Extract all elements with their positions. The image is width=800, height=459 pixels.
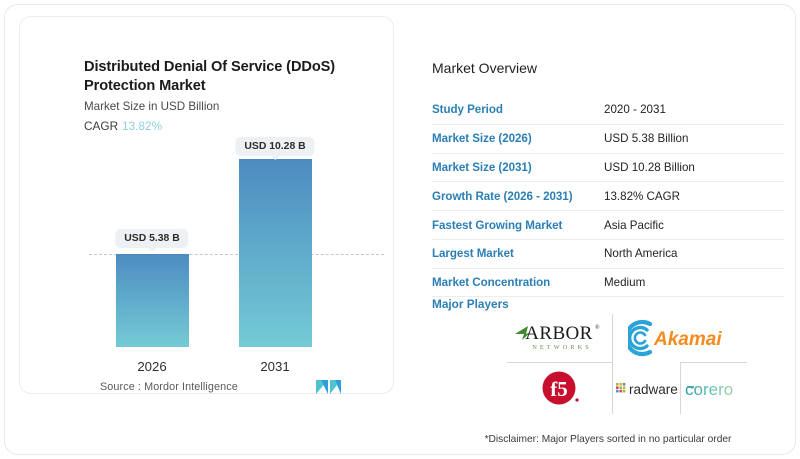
- bar-2031: [239, 159, 312, 347]
- row-value: 2020 - 2031: [604, 96, 784, 124]
- table-row: Market Size (2026) USD 5.38 Billion: [432, 124, 784, 153]
- bar-2026: [116, 254, 189, 347]
- row-value: Medium: [604, 268, 784, 297]
- row-value: North America: [604, 239, 784, 268]
- grid-divider-vertical: [612, 314, 613, 362]
- source-row: Source : Mordor Intelligence: [100, 379, 342, 395]
- table-row: Market Concentration Medium: [432, 268, 784, 297]
- table-row: Study Period 2020 - 2031: [432, 96, 784, 124]
- market-overview-panel: Market Overview Study Period 2020 - 2031…: [432, 16, 792, 446]
- x-axis-tick-2031: 2031: [260, 359, 289, 374]
- chart-subtitle: Market Size in USD Billion: [84, 100, 219, 113]
- row-key: Market Size (2026): [432, 124, 604, 153]
- table-row: Largest Market North America: [432, 239, 784, 268]
- player-logo-radware: radware: [613, 366, 681, 412]
- row-value: 13.82% CAGR: [604, 182, 784, 211]
- cagr-value: 13.82%: [122, 119, 162, 133]
- chart-cagr: CAGR13.82%: [84, 119, 162, 133]
- grid-divider-horizontal: [507, 362, 612, 363]
- row-value: USD 10.28 Billion: [604, 153, 784, 182]
- cagr-label: CAGR: [84, 119, 118, 133]
- page-frame: Distributed Denial Of Service (DDoS) Pro…: [4, 4, 796, 455]
- major-players-logo-grid: ARBOR ® NETWORKS Akamai f5: [507, 314, 747, 414]
- chart-title: Distributed Denial Of Service (DDoS) Pro…: [84, 58, 374, 97]
- market-overview-table: Study Period 2020 - 2031 Market Size (20…: [432, 96, 784, 297]
- row-key: Growth Rate (2026 - 2031): [432, 182, 604, 211]
- table-row: Fastest Growing Market Asia Pacific: [432, 211, 784, 240]
- bar-value-label-2031: USD 10.28 B: [235, 137, 314, 156]
- market-overview-heading: Market Overview: [432, 60, 537, 76]
- chart-card: Distributed Denial Of Service (DDoS) Pro…: [19, 16, 394, 394]
- player-logo-corero: corero: [683, 366, 747, 412]
- table-row: Growth Rate (2026 - 2031) 13.82% CAGR: [432, 182, 784, 211]
- mordor-intelligence-logo: [316, 379, 342, 395]
- disclaimer-text: *Disclaimer: Major Players sorted in no …: [432, 434, 784, 445]
- table-row: Market Size (2031) USD 10.28 Billion: [432, 153, 784, 182]
- major-players-label: Major Players: [432, 297, 509, 311]
- row-key: Market Concentration: [432, 268, 604, 297]
- svg-text:Akamai: Akamai: [653, 329, 722, 350]
- row-value: Asia Pacific: [604, 211, 784, 240]
- bar-value-label-2026: USD 5.38 B: [115, 229, 188, 248]
- source-label: Source : Mordor Intelligence: [100, 381, 238, 393]
- svg-text:®: ®: [595, 324, 600, 331]
- bar-chart-plot: USD 5.38 B USD 10.28 B 2026 2031: [84, 137, 384, 352]
- svg-text:f5: f5: [550, 377, 568, 401]
- svg-text:ARBOR: ARBOR: [525, 323, 592, 344]
- grid-divider-horizontal: [680, 362, 747, 363]
- svg-text:NETWORKS: NETWORKS: [532, 344, 592, 351]
- svg-text:corero: corero: [685, 380, 733, 399]
- row-key: Market Size (2031): [432, 153, 604, 182]
- player-logo-f5: f5: [515, 366, 607, 412]
- x-axis-tick-2026: 2026: [137, 359, 166, 374]
- svg-text:radware: radware: [629, 382, 678, 397]
- row-key: Fastest Growing Market: [432, 211, 604, 240]
- row-value: USD 5.38 Billion: [604, 124, 784, 153]
- player-logo-akamai: Akamai: [625, 316, 735, 360]
- player-logo-arbor: ARBOR ® NETWORKS: [507, 316, 611, 360]
- row-key: Largest Market: [432, 239, 604, 268]
- row-key: Study Period: [432, 96, 604, 124]
